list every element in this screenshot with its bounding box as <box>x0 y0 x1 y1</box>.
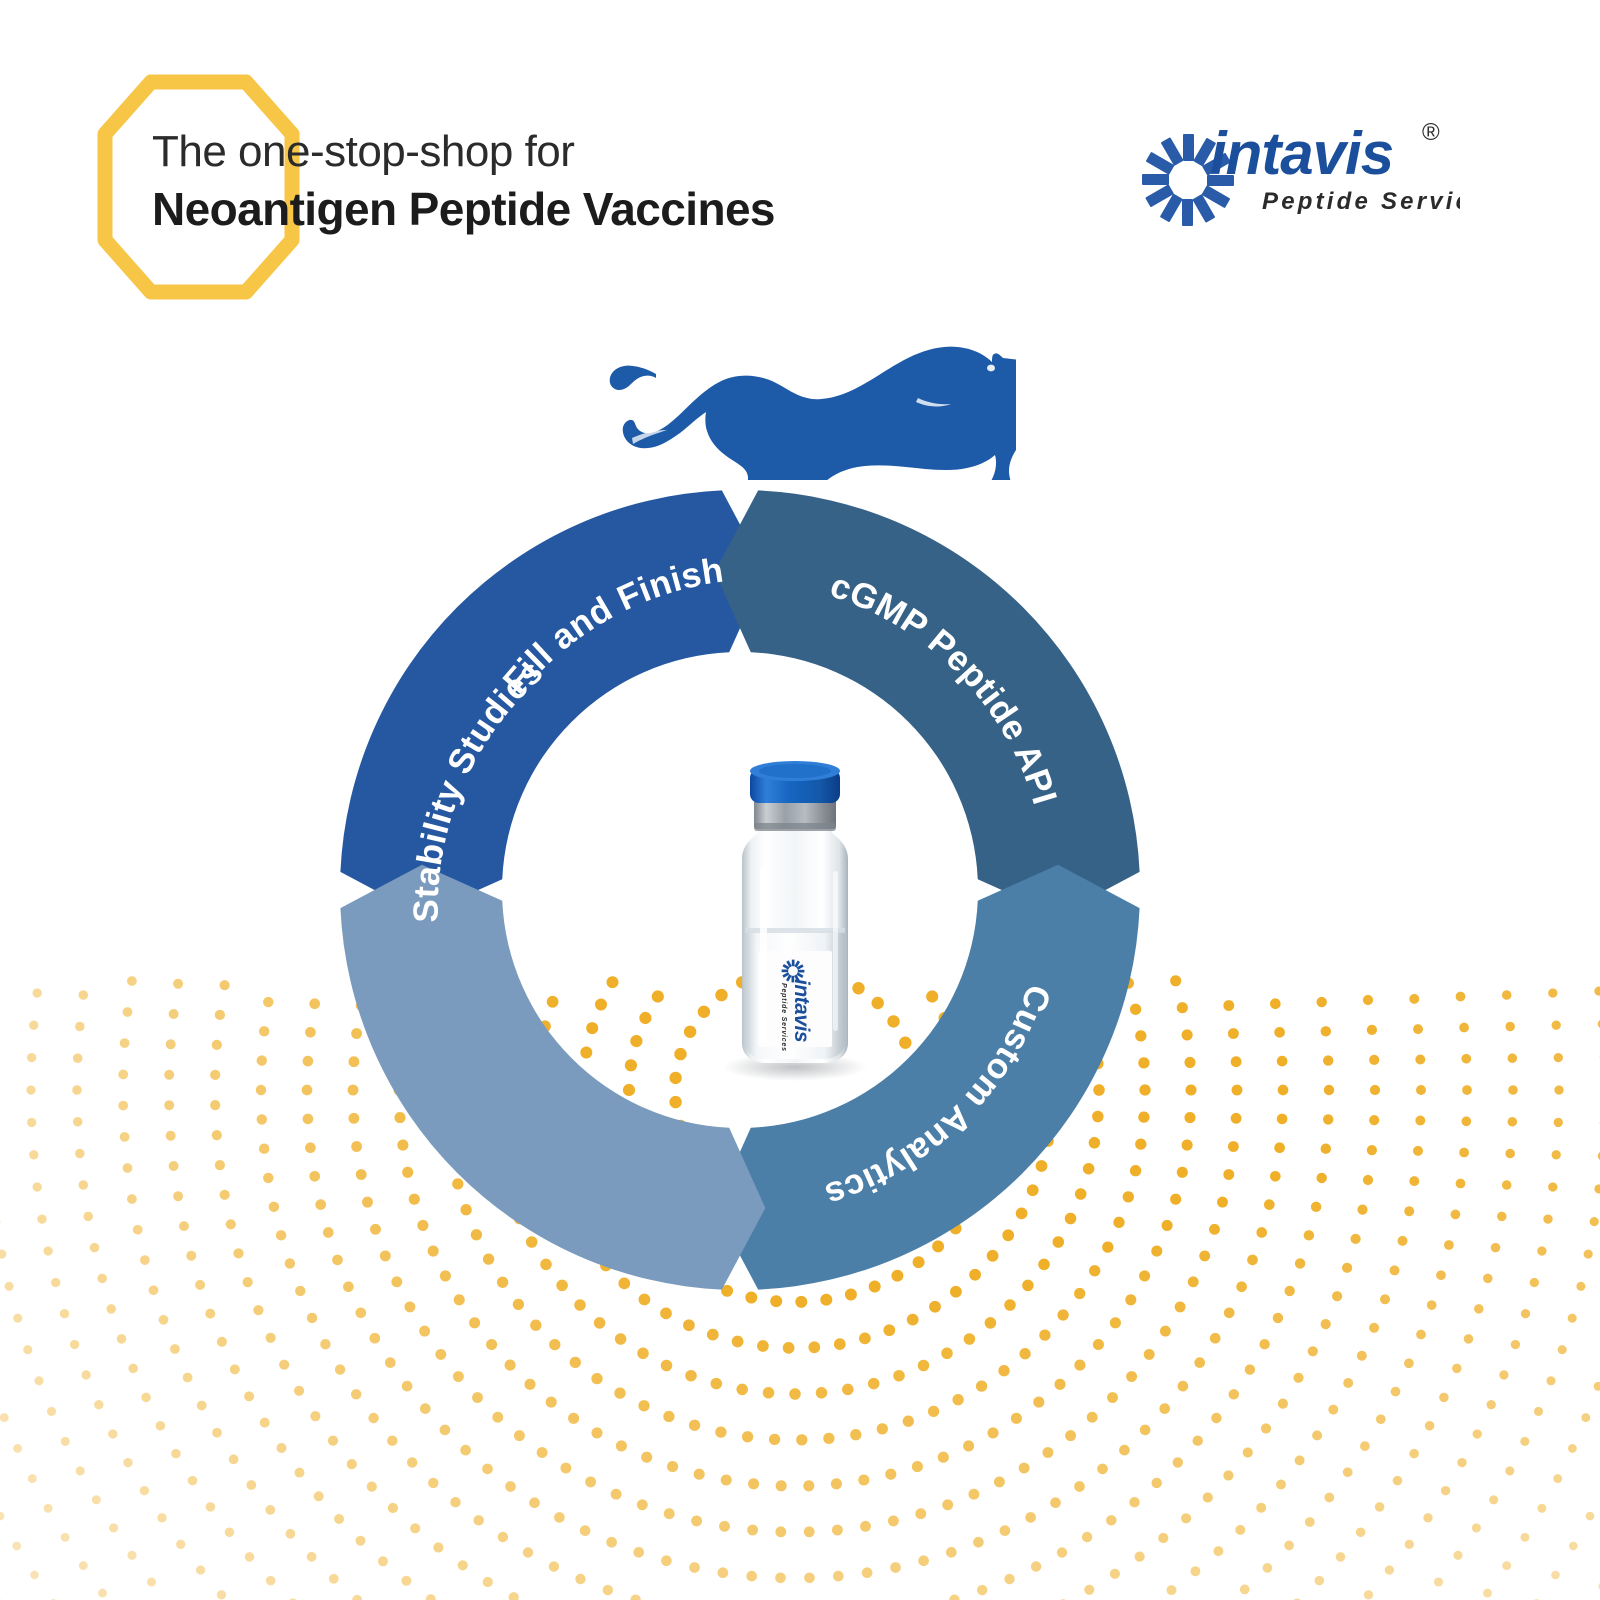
vial-highlight-right <box>833 871 838 1031</box>
running-cheetah-icon <box>566 330 1016 480</box>
headline-title: Neoantigen Peptide Vaccines <box>152 182 912 236</box>
vial-highlight-left <box>760 867 767 1043</box>
header: The one-stop-shop for Neoantigen Peptide… <box>0 0 1600 320</box>
brand-logo[interactable]: intavis ® Peptide Services <box>1140 112 1460 232</box>
brand-wordmark: intavis <box>1210 120 1393 187</box>
vial-collar-rim <box>754 823 836 831</box>
headline-tagline: The one-stop-shop for <box>152 126 912 178</box>
vial-cap-top-inner <box>759 764 831 778</box>
registered-trademark-icon: ® <box>1422 119 1440 146</box>
page-title: The one-stop-shop for Neoantigen Peptide… <box>152 126 912 236</box>
vial-label-brand: intavis <box>790 979 813 1042</box>
vaccine-vial-icon: intavis Peptide Services <box>700 755 890 1085</box>
vial-label-tagline: Peptide Services <box>780 983 787 1052</box>
brand-tagline: Peptide Services <box>1262 188 1460 215</box>
